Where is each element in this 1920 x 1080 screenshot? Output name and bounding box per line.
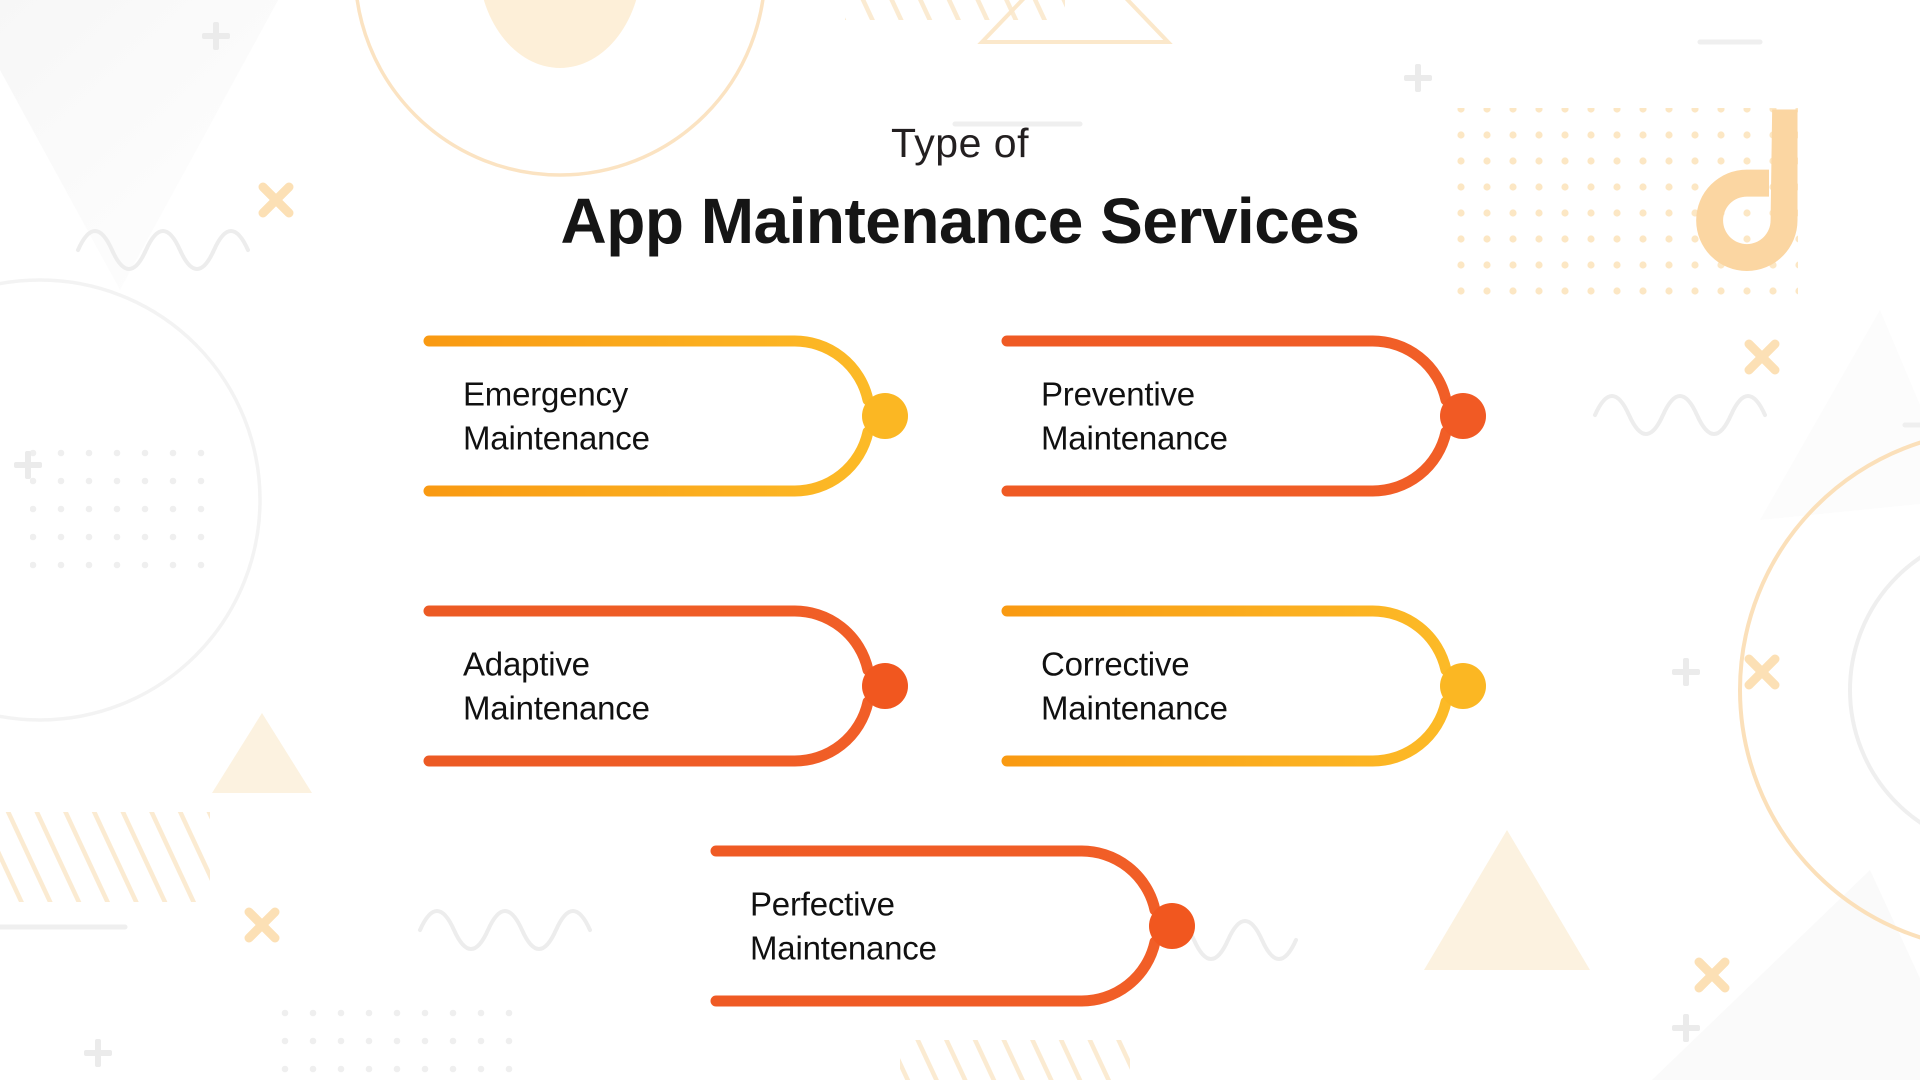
dot-grid-icon	[30, 430, 215, 580]
service-card-label: Perfective Maintenance	[750, 882, 937, 969]
service-card-perfective-maintenance[interactable]: Perfective Maintenance	[712, 840, 1177, 1012]
pill-end-dot	[1149, 903, 1195, 949]
service-card-label: Adaptive Maintenance	[463, 642, 650, 729]
triangle-icon	[1424, 830, 1590, 970]
diagonal-hatch-icon	[845, 0, 1065, 20]
pill-end-dot	[862, 663, 908, 709]
service-card-label: Preventive Maintenance	[1041, 372, 1228, 459]
diagonal-hatch-icon	[0, 812, 210, 902]
diagonal-hatch-icon	[900, 1040, 1130, 1080]
pill-end-dot	[862, 393, 908, 439]
service-card-emergency-maintenance[interactable]: Emergency Maintenance	[425, 330, 890, 502]
service-card-preventive-maintenance[interactable]: Preventive Maintenance	[1003, 330, 1468, 502]
pill-end-dot	[1440, 663, 1486, 709]
triangle-icon	[212, 713, 312, 793]
page-title: App Maintenance Services	[0, 188, 1920, 255]
pill-end-dot	[1440, 393, 1486, 439]
dot-grid-icon	[278, 1000, 528, 1080]
page-eyebrow: Type of	[0, 120, 1920, 167]
service-card-label: Corrective Maintenance	[1041, 642, 1228, 729]
service-card-corrective-maintenance[interactable]: Corrective Maintenance	[1003, 600, 1468, 772]
service-card-label: Emergency Maintenance	[463, 372, 650, 459]
service-card-adaptive-maintenance[interactable]: Adaptive Maintenance	[425, 600, 890, 772]
